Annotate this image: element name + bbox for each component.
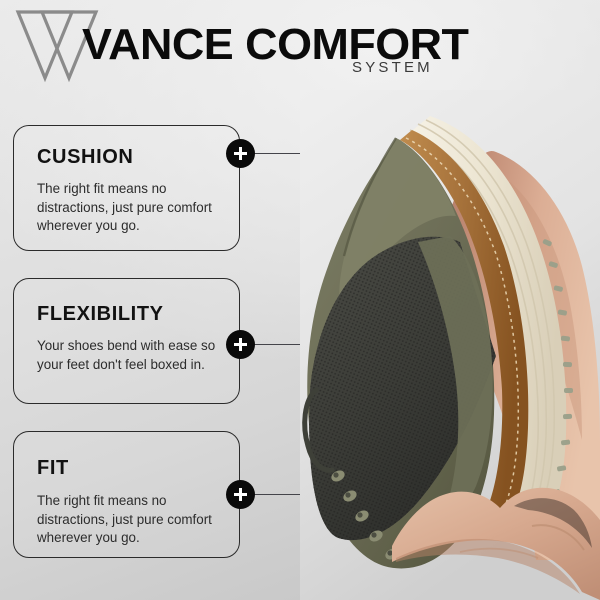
feature-description: Your shoes bend with ease so your feet d… (37, 337, 223, 374)
feature-description: The right fit means no distractions, jus… (37, 492, 223, 548)
plus-badge-cushion[interactable] (226, 139, 255, 168)
feature-card-flexibility[interactable]: FLEXIBILITY Your shoes bend with ease so… (13, 278, 240, 404)
feature-card-cushion[interactable]: CUSHION The right fit means no distracti… (13, 125, 240, 251)
product-photo-shoe-in-hands (300, 90, 600, 600)
feature-card-fit[interactable]: FIT The right fit means no distractions,… (13, 431, 240, 558)
header: VANCE COMFORT SYSTEM (0, 0, 600, 100)
feature-title: FIT (37, 457, 69, 480)
plus-icon (234, 488, 247, 501)
infographic-canvas: VANCE COMFORT SYSTEM CUSHION The right f… (0, 0, 600, 600)
feature-title: FLEXIBILITY (37, 303, 164, 326)
plus-icon (234, 338, 247, 351)
brand-subtitle: SYSTEM (352, 59, 433, 76)
feature-description: The right fit means no distractions, jus… (37, 180, 223, 236)
feature-title: CUSHION (37, 146, 133, 169)
plus-icon (234, 147, 247, 160)
plus-badge-fit[interactable] (226, 480, 255, 509)
plus-badge-flexibility[interactable] (226, 330, 255, 359)
